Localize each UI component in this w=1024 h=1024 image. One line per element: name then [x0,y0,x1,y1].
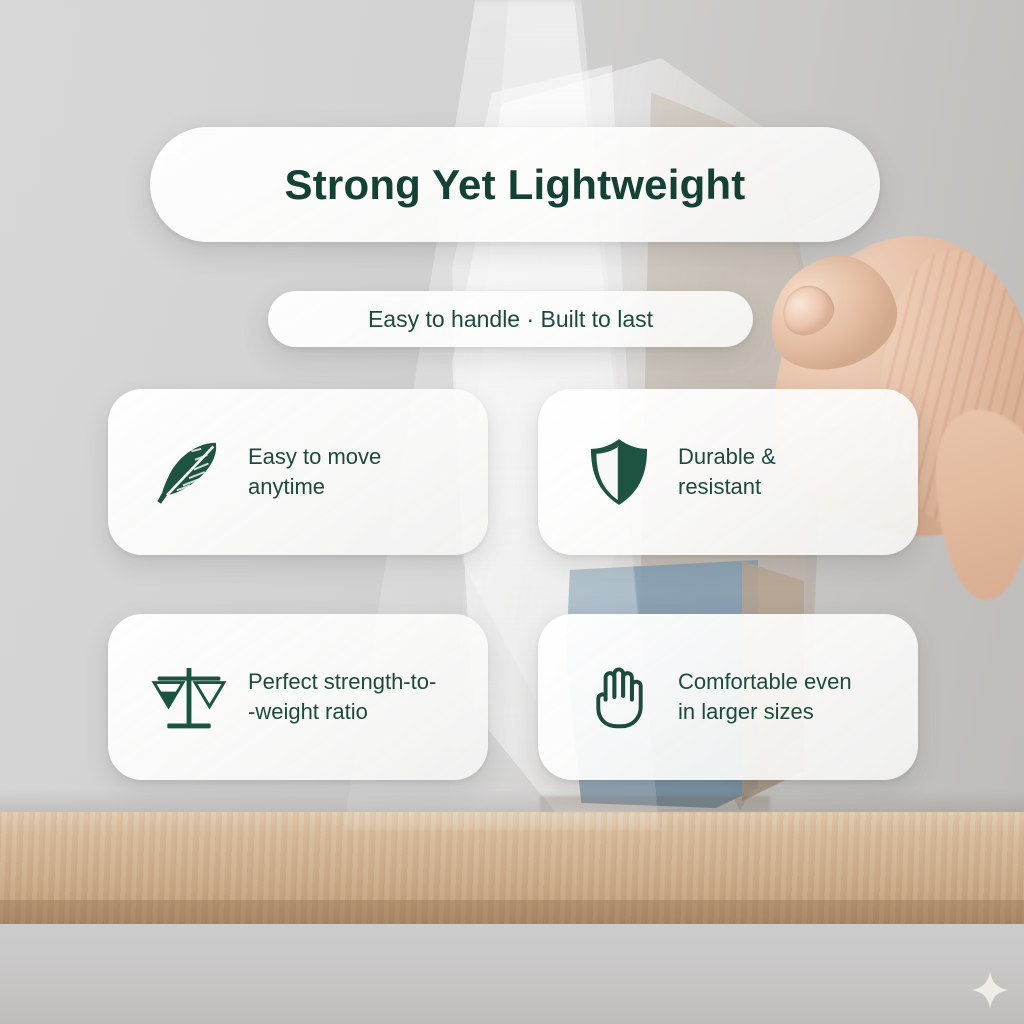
hero-subtitle-pill: Easy to handle · Built to last [268,291,753,347]
background-below-shelf [0,924,1024,1024]
page-subtitle: Easy to handle · Built to last [368,306,653,333]
feature-card-strength-to-weight[interactable]: Perfect strength-to- -weight ratio [108,614,488,780]
page-title: Strong Yet Lightweight [285,161,746,209]
feature-label: Durable & resistant [678,442,776,501]
poster-canvas: Strong Yet Lightweight Easy to handle · … [0,0,1024,1024]
feature-card-durable[interactable]: Durable & resistant [538,389,918,555]
scales-icon [146,656,232,738]
feature-card-easy-to-move[interactable]: Easy to move anytime [108,389,488,555]
feature-label: Easy to move anytime [248,442,381,501]
shield-icon [576,433,662,511]
shelf-front-edge [0,900,1024,926]
open-hand-icon [576,658,662,736]
hero-title-pill: Strong Yet Lightweight [150,127,880,242]
feature-card-comfortable[interactable]: Comfortable even in larger sizes [538,614,918,780]
feature-label: Comfortable even in larger sizes [678,667,852,726]
sparkle-icon [968,968,1012,1012]
feather-icon [146,433,232,511]
feature-label: Perfect strength-to- -weight ratio [248,667,488,726]
